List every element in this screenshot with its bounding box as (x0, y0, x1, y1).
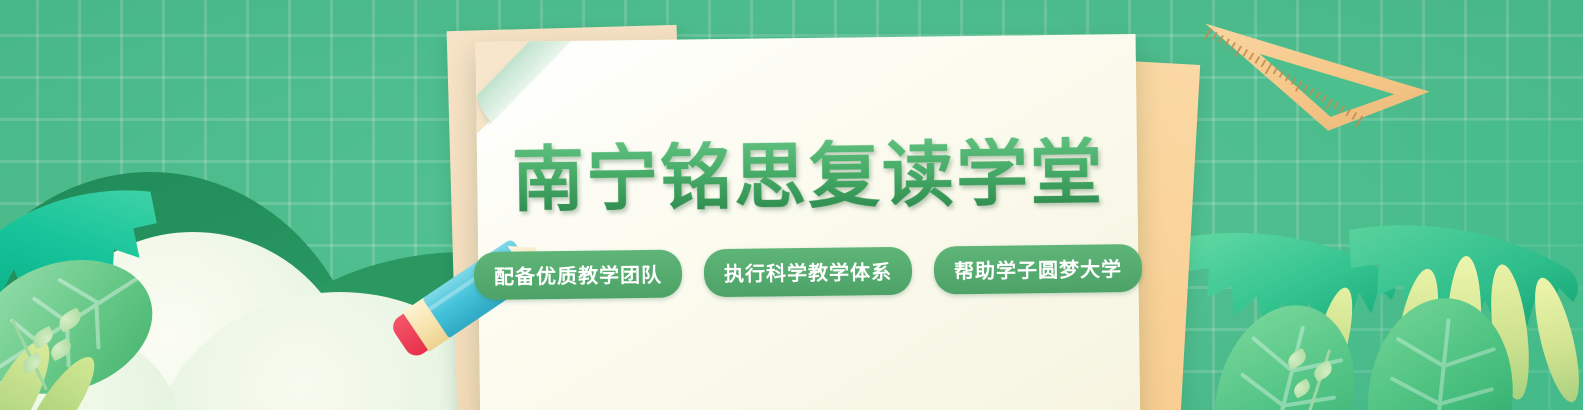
badge-university-dream[interactable]: 帮助学子圆梦大学 (934, 244, 1143, 295)
education-banner: 南宁铭思复读学堂 配备优质教学团队 执行科学教学体系 帮助学子圆梦大学 (0, 0, 1583, 410)
badge-row: 配备优质教学团队 执行科学教学体系 帮助学子圆梦大学 (478, 244, 1139, 300)
page-title: 南宁铭思复读学堂 (478, 136, 1139, 216)
badge-teaching-team[interactable]: 配备优质教学团队 (474, 250, 683, 301)
badge-teaching-system[interactable]: 执行科学教学体系 (704, 247, 913, 298)
triangle-ruler (1196, 6, 1432, 132)
veined-oval-leaf-right-2 (1341, 283, 1541, 410)
title-block: 南宁铭思复读学堂 (478, 136, 1139, 216)
paper-sheet-main (476, 34, 1141, 410)
